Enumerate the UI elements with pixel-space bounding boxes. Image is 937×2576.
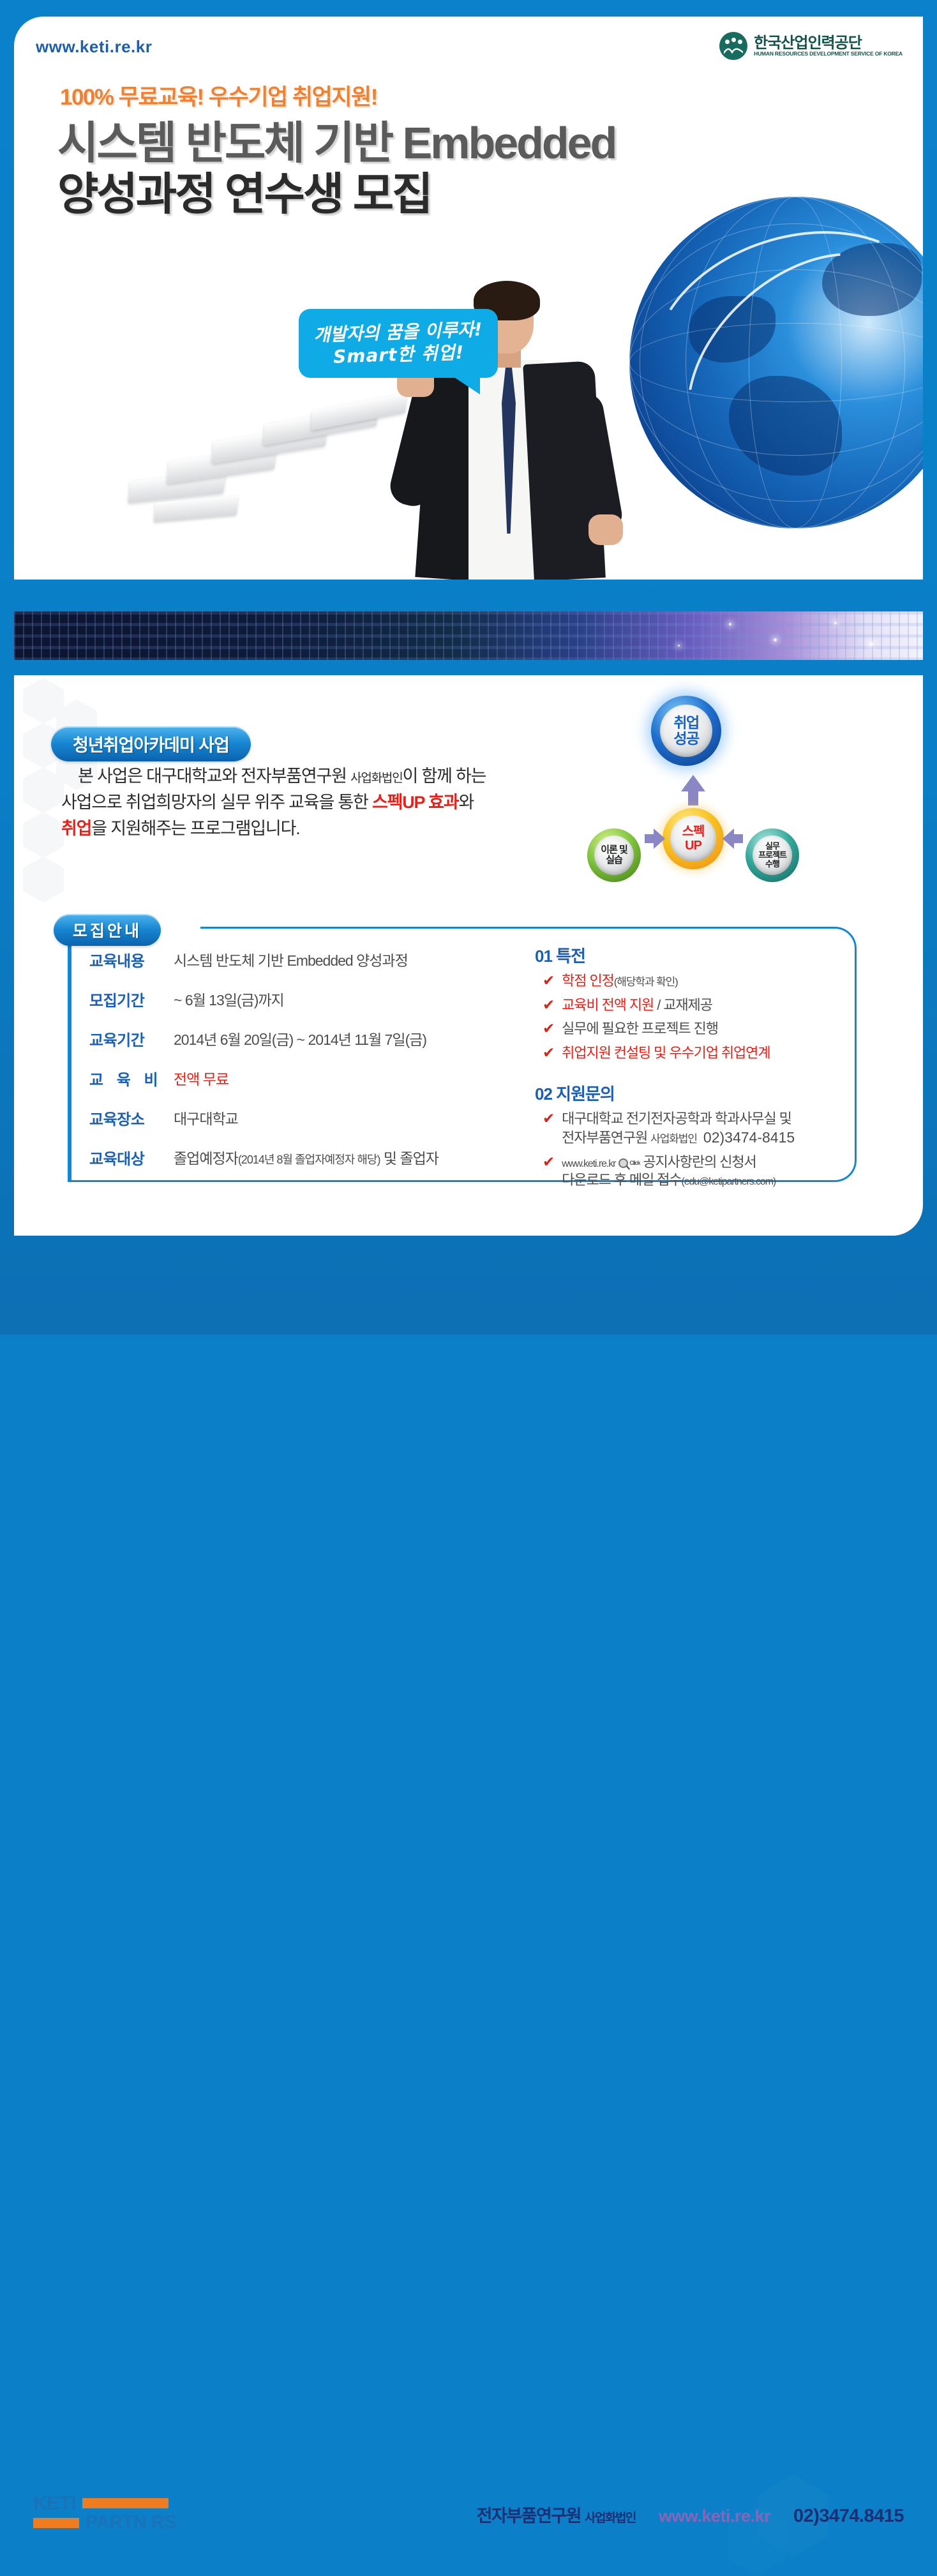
arrow-up-stem xyxy=(688,789,698,805)
row-value-location: 대구대학교 xyxy=(174,1107,439,1146)
diagram-node-spec-up: 스펙UP xyxy=(663,808,724,869)
list-item: ✔ 실무에 필요한 프로젝트 진행 xyxy=(535,1020,835,1038)
inquiry-line-1: 대구대학교 전기전자공학과 학과사무실 및 xyxy=(562,1111,791,1127)
table-row: 교육기간 2014년 6월 20일(금) ~ 2014년 11월 7일(금) xyxy=(89,1028,439,1067)
row-label-location: 교육장소 xyxy=(89,1107,174,1146)
partners-logo-text: PARTN RS xyxy=(86,2512,176,2533)
hrd-logo-english: HUMAN RESOURCES DEVELOPMENT SERVICE OF K… xyxy=(754,51,903,57)
row-value-training-period: 2014년 6월 20일(금) ~ 2014년 11월 7일(금) xyxy=(174,1028,439,1067)
table-row: 교육내용 시스템 반도체 기반 Embedded 양성과정 xyxy=(89,948,439,988)
globe-illustration xyxy=(629,197,923,528)
header-website-url[interactable]: www.keti.re.kr xyxy=(36,37,152,57)
magnifier-icon xyxy=(618,1158,628,1168)
list-item: ✔ 대구대학교 전기전자공학과 학과사무실 및 전자부품연구원 사업화법인 02… xyxy=(535,1110,835,1147)
diagram-node-theory-practice: 이론 및실습 xyxy=(587,828,641,882)
inquiry-phone-number[interactable]: 02)3474-8415 xyxy=(703,1129,795,1146)
intro-text-b: 이 함께 하는 xyxy=(403,767,486,786)
table-row: 교육대상 졸업예정자(2014년 8월 졸업자예정자 해당) 및 졸업자 xyxy=(89,1146,439,1186)
inquiry-line-3: 공지사항란의 신청서 xyxy=(643,1154,756,1170)
row-value-course-content: 시스템 반도체 기반 Embedded 양성과정 xyxy=(174,948,439,988)
hero-title-line2: 양성과정 연수생 모집 xyxy=(57,158,431,223)
benefit-3-text: 취업지원 컨설팅 및 우수기업 취업연계 xyxy=(562,1044,770,1063)
benefit-0-note: (해당학과 확인) xyxy=(614,976,678,988)
footer-website-url[interactable]: www.keti.re.kr xyxy=(659,2506,770,2526)
intro-text-a: 본 사업은 대구대학교와 전자부품연구원 xyxy=(78,767,350,786)
hero-panel: www.keti.re.kr 한국산업인력공단 HUMAN RESOURCES … xyxy=(14,17,923,580)
click-cursor-icon: Click xyxy=(618,1158,640,1168)
node-theory-line2: 실습 xyxy=(606,855,622,865)
inquiry-line-2a: 전자부품연구원 xyxy=(562,1130,650,1146)
check-icon: ✔ xyxy=(543,996,554,1013)
list-item: ✔ 취업지원 컨설팅 및 우수기업 취업연계 xyxy=(535,1044,835,1063)
table-row: 교육장소 대구대학교 xyxy=(89,1107,439,1146)
benefit-1-note: / 교재제공 xyxy=(654,997,712,1013)
list-item: ✔ 학점 인정(해당학과 확인) xyxy=(535,972,835,991)
intro-text-e: 을 지원해주는 프로그램입니다. xyxy=(91,819,299,838)
check-icon: ✔ xyxy=(543,1020,554,1037)
node-theory-line1: 이론 및 xyxy=(601,844,627,855)
benefit-1-text: 교육비 전액 지원 xyxy=(562,997,654,1013)
hrd-logo-text: 한국산업인력공단 HUMAN RESOURCES DEVELOPMENT SER… xyxy=(754,35,903,57)
node-spec-line2: UP xyxy=(685,839,701,853)
keti-partners-logo: KETI PARTN RS xyxy=(33,2492,180,2531)
wave-icon xyxy=(724,47,743,54)
keti-logo-text: KETI xyxy=(33,2492,76,2515)
hrd-emblem-icon xyxy=(719,32,747,60)
check-icon: ✔ xyxy=(543,1110,554,1127)
node-success-line1: 취업 xyxy=(673,714,698,731)
badge-youth-employment-academy: 청년취업아카데미 사업 xyxy=(51,726,251,761)
intro-text-d: 와 xyxy=(458,793,474,812)
node-project-line3: 수행 xyxy=(765,859,779,869)
table-row: 교 육 비 전액 무료 xyxy=(89,1067,439,1107)
arrow-right-stem xyxy=(733,834,743,843)
row-label-course-content: 교육내용 xyxy=(89,948,174,988)
hrd-logo-korean: 한국산업인력공단 xyxy=(754,35,903,51)
footer-organization: 전자부품연구원 사업화법인 xyxy=(477,2502,636,2527)
inquiry-website-url[interactable]: www.keti.re.kr xyxy=(562,1158,615,1169)
benefits-and-inquiry-column: 01 특전 ✔ 학점 인정(해당학과 확인) ✔ 교육비 전액 지원 / 교재제… xyxy=(535,943,835,1195)
benefits-heading: 01 특전 xyxy=(535,943,835,967)
inquiry-line-2-small: 사업화법인 xyxy=(650,1133,697,1145)
decorative-band xyxy=(14,611,923,660)
node-project-line1: 실무 xyxy=(765,841,779,851)
program-description: 본 사업은 대구대학교와 전자부품연구원 사업화법인이 함께 하는 사업으로 취… xyxy=(61,763,534,842)
row-label-application-period: 모집기간 xyxy=(89,988,174,1028)
table-row: 모집기간 ~ 6월 13일(금)까지 xyxy=(89,988,439,1028)
poster-root: www.keti.re.kr 한국산업인력공단 HUMAN RESOURCES … xyxy=(0,0,937,1335)
intro-text-c: 사업으로 취업희망자의 실무 위주 교육을 통한 xyxy=(61,793,372,812)
node-spec-line1: 스펙 xyxy=(682,825,705,839)
row-label-eligibility: 교육대상 xyxy=(89,1146,174,1186)
arrow-right-icon xyxy=(654,828,665,849)
benefit-2-text: 실무에 필요한 프로젝트 진행 xyxy=(562,1020,718,1038)
node-project-line2: 프로젝트 xyxy=(758,850,786,860)
keti-logo-bar-1 xyxy=(82,2498,169,2508)
footer: KETI PARTN RS 전자부품연구원 사업화법인 www.keti.re.… xyxy=(0,1236,937,1335)
row-value-tuition-fee: 전액 무료 xyxy=(174,1067,439,1107)
footer-phone-number[interactable]: 02)3474.8415 xyxy=(793,2506,904,2527)
diagram-node-employment-success: 취업성공 xyxy=(651,696,721,766)
speech-bubble: 개발자의 꿈을 이루자! Smart한 취업! xyxy=(299,309,498,378)
intro-text-a-small: 사업화법인 xyxy=(350,772,402,785)
hrd-korea-logo: 한국산업인력공단 HUMAN RESOURCES DEVELOPMENT SER… xyxy=(719,32,903,60)
inquiry-line-4: 다운로드 후 메일 접수 xyxy=(562,1172,681,1188)
diagram-node-practical-project: 실무프로젝트수행 xyxy=(746,828,799,882)
row-label-training-period: 교육기간 xyxy=(89,1028,174,1067)
row-value-eligibility: 졸업예정자(2014년 8월 졸업자예정자 해당) 및 졸업자 xyxy=(174,1146,439,1186)
specup-flow-diagram: 취업성공 스펙UP 이론 및실습 실무프로젝트수행 xyxy=(587,696,804,887)
row-value-application-period: ~ 6월 13일(금)까지 xyxy=(174,988,439,1028)
intro-highlight-specup: 스펙UP 효과 xyxy=(372,793,458,812)
check-icon: ✔ xyxy=(543,972,554,989)
row-label-tuition-fee: 교 육 비 xyxy=(89,1067,174,1107)
badge-recruitment-info: 모집안내 xyxy=(54,914,161,946)
list-item: ✔ www.keti.re.kr Click 공지사항란의 신청서 다운로드 후… xyxy=(535,1153,835,1190)
intro-highlight-employment: 취업 xyxy=(61,819,91,838)
benefit-0-text: 학점 인정 xyxy=(562,973,614,989)
inquiry-email[interactable]: (edu@ketipartners.com) xyxy=(681,1176,776,1187)
node-success-line2: 성공 xyxy=(673,730,698,747)
footer-contact-row: 전자부품연구원 사업화법인 www.keti.re.kr 02)3474.841… xyxy=(477,2502,904,2527)
inquiry-heading: 02 지원문의 xyxy=(535,1081,835,1105)
recruitment-details-table: 교육내용 시스템 반도체 기반 Embedded 양성과정 모집기간 ~ 6월 … xyxy=(89,948,439,1186)
check-icon: ✔ xyxy=(543,1044,554,1061)
arrow-left-icon xyxy=(723,828,734,849)
list-item: ✔ 교육비 전액 지원 / 교재제공 xyxy=(535,996,835,1015)
speech-bubble-line2: Smart한 취업! xyxy=(333,341,464,368)
click-label: Click xyxy=(629,1160,640,1167)
keti-logo-bar-2 xyxy=(33,2518,79,2528)
check-icon: ✔ xyxy=(543,1153,554,1170)
